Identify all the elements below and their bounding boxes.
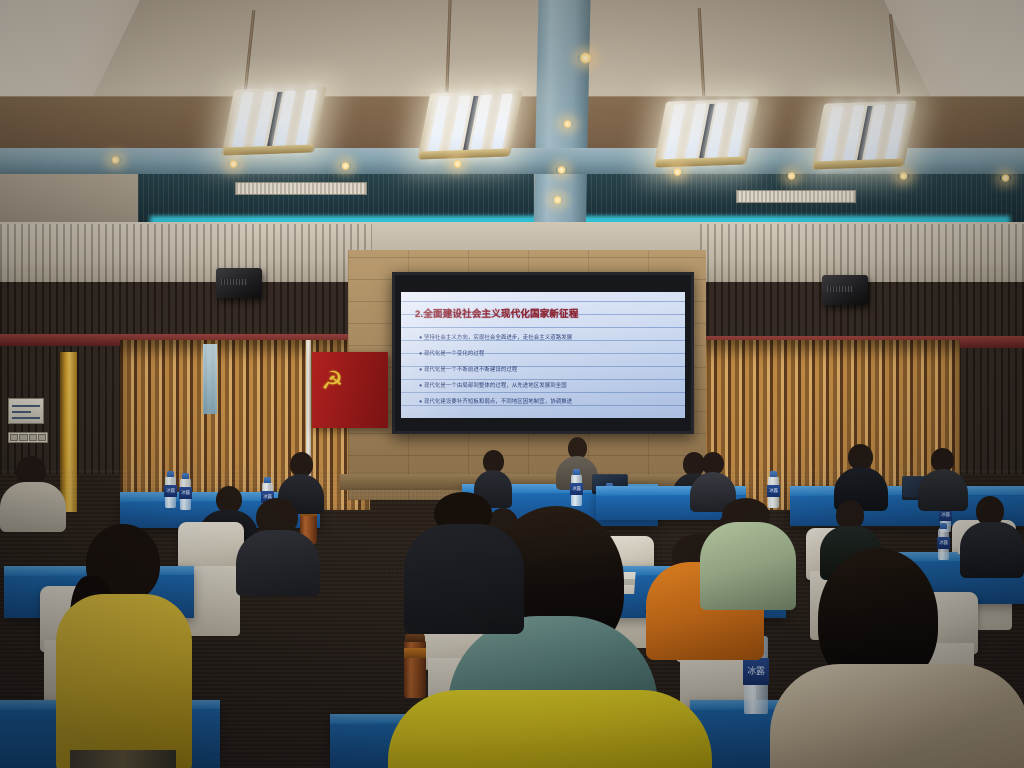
ceiling [0,0,1024,240]
fluorescent-lamp-2 [417,90,523,159]
slide-bullet-2: ● 现代化是一个变化的过程 [419,349,675,357]
water-bottle: 冰露 [768,476,779,508]
lamp-suspension-rod [244,10,256,92]
ceiling-spotlight [340,162,351,170]
attendee-suit-back-right [834,444,888,506]
patterned-skirt [70,750,176,768]
slide-bullet-1: ● 坚持社会主义方向，实现社会全面进步，走社会主义道路发展 [419,333,675,341]
left-wall-speaker [216,268,262,298]
hammer-sickle-icon: ☭ [321,366,351,396]
attendee-left-mid [236,498,320,590]
slide-bullet-4: ● 现代化是一个由局部到整体的过程，从先进地区发展到全国 [419,381,675,389]
projection-screen-frame: 2.全面建设社会主义现代化国家新征程 ● 坚持社会主义方向，实现社会全面进步，走… [392,272,694,434]
fluorescent-lamp-1 [221,86,327,155]
ceiling-spotlight [110,156,121,164]
attendee-back-row-left [690,452,736,508]
ceiling-beam-vertical [533,0,590,240]
ceiling-spotlight [452,160,463,168]
ceiling-spotlight [552,196,563,204]
air-conditioning-grille [235,182,367,195]
attendee-sage-green-jacket [700,520,796,610]
slide-bullet-3: ● 现代化是一个不断前进不断建设的过程 [419,365,675,373]
attendee-black-hoodie [404,520,524,630]
ceiling-spotlight [1000,174,1011,182]
window-gap [203,344,217,414]
conference-room-photo: 2.全面建设社会主义现代化国家新征程 ● 坚持社会主义方向，实现社会全面进步，走… [0,0,1024,768]
attendee-yellow-coat-ponytail [56,524,192,768]
attendee-grey-jacket [0,456,66,526]
ceiling-spotlight [672,168,683,176]
lamp-suspension-rod [445,0,451,92]
water-bottle: 冰露 [571,474,582,506]
air-conditioning-grille [736,190,856,203]
wall-notice-placard [8,398,44,424]
ceiling-spotlight [786,172,797,180]
attendee-cream-fleece [770,548,1024,768]
ceiling-spotlight [898,172,909,180]
ceiling-spotlight [562,120,573,128]
light-switch-panel[interactable] [8,432,48,443]
slide-bullet-5: ● 现代化建设要补齐短板和弱点，不同地区因地制宜，协调推进 [419,397,675,405]
ceiling-spotlight [228,160,239,168]
projection-screen: 2.全面建设社会主义现代化国家新征程 ● 坚持社会主义方向，实现社会全面进步，走… [401,292,685,418]
water-bottle: 冰露 [165,476,176,508]
slide-title: 2.全面建设社会主义现代化国家新征程 [415,306,677,320]
ceiling-spotlight [578,52,593,64]
lamp-suspension-rod [698,8,706,96]
communist-party-flag: ☭ [312,352,388,428]
water-bottle: 冰露 [180,478,191,510]
ceiling-spotlight [556,166,567,174]
fluorescent-lamp-3 [653,98,759,167]
fluorescent-lamp-4 [811,100,917,169]
right-wall-speaker [822,275,868,305]
